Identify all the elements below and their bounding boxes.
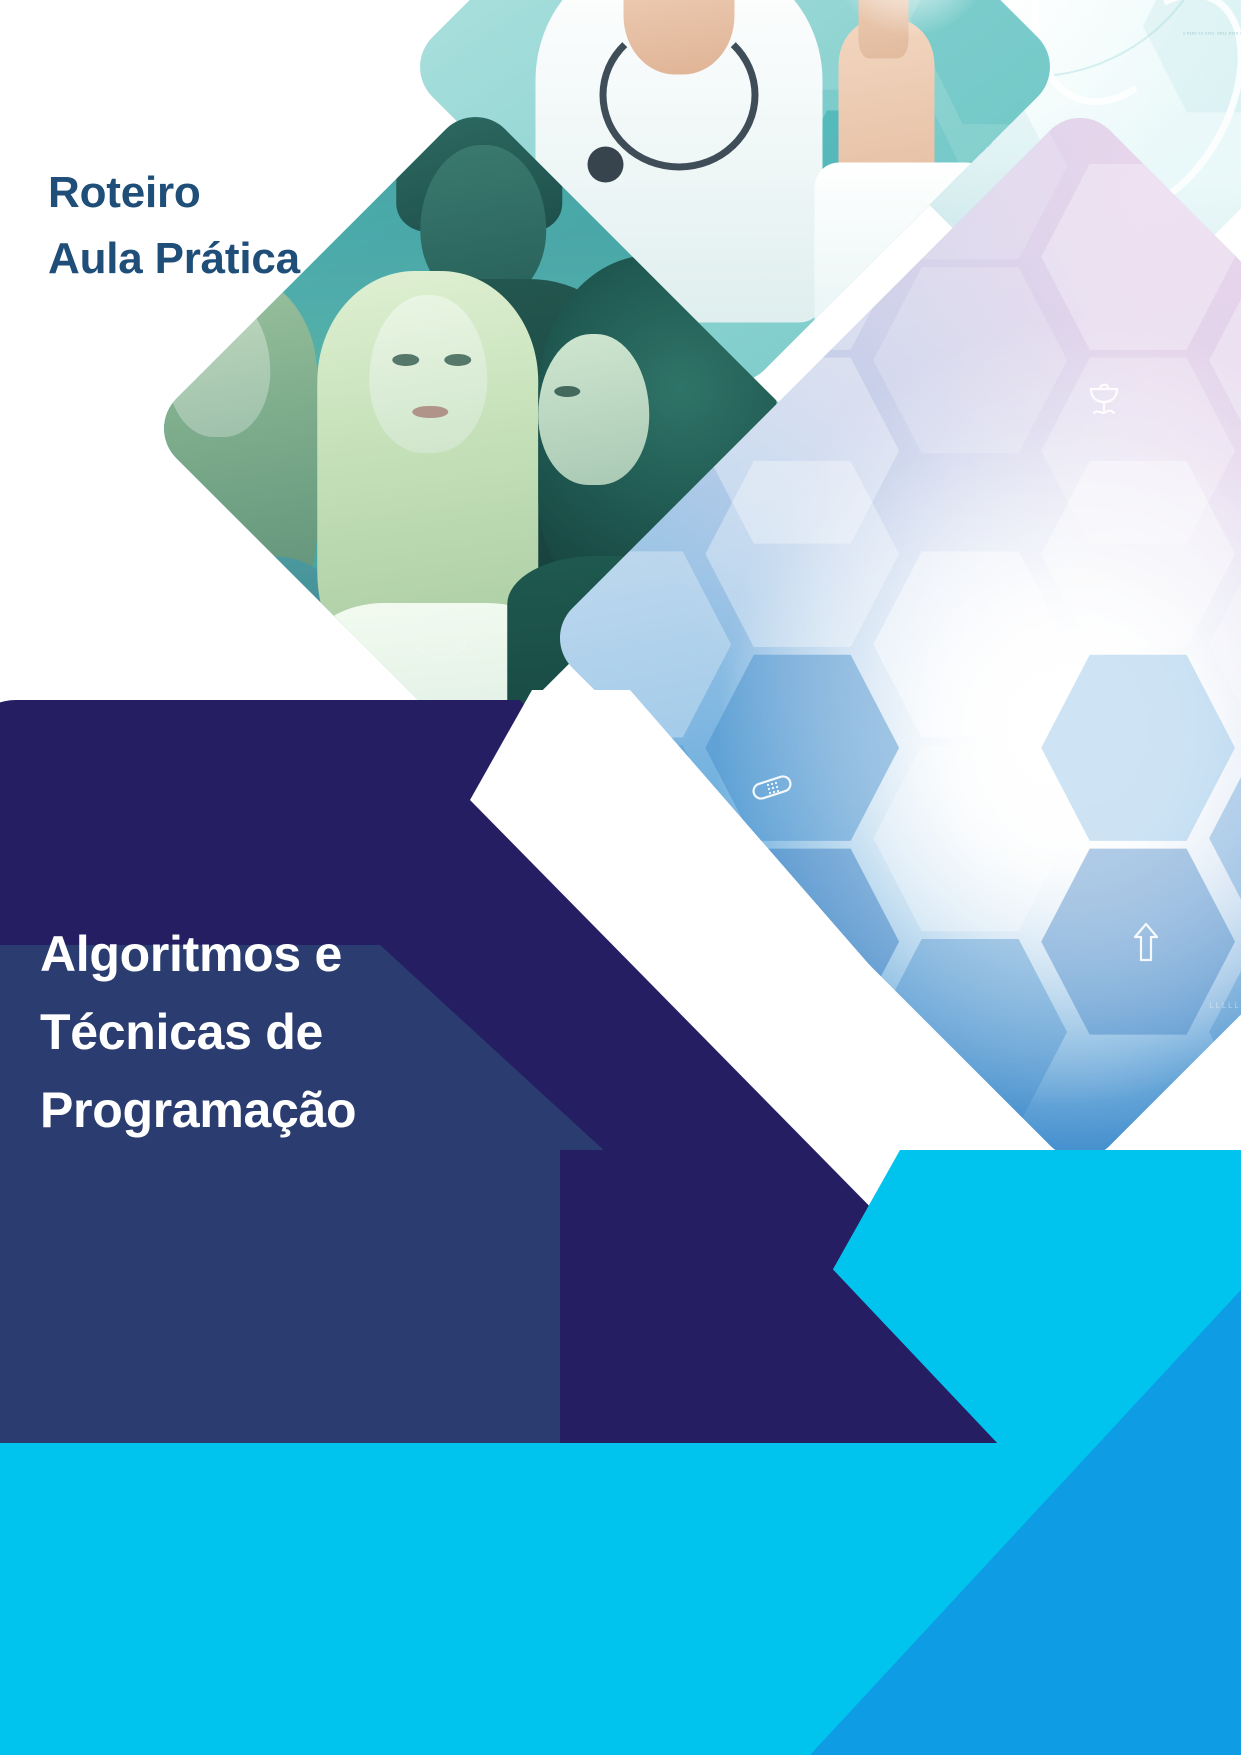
bowl-of-hygieia-icon [1086,380,1122,425]
up-arrow-icon [1132,922,1160,967]
title-line-2: Técnicas de [40,993,470,1071]
cover-page: — 00 0110 1 01 0010 10 0011 0101 0110 10… [0,0,1241,1755]
header-line-roteiro: Roteiro [48,160,300,226]
header-line-aula-pratica: Aula Prática [48,226,300,292]
document-header: Roteiro Aula Prática [48,160,300,292]
title-line-1: Algoritmos e [40,915,470,993]
micro-text: 1 0100 10 1101 0011 0110 1001 [1183,30,1241,36]
title-line-3: Programação [40,1071,470,1149]
bandage-icon [751,774,793,805]
code-texture: ԼԼԼԼԼ ԼԼԼԼ ԼԼԼ ԼԼԼԼԼ ԼԼԼԼ ԼԼԼ ԼԼԼԼԼ ԼԼԼԼ… [1209,1000,1241,1011]
document-title: Algoritmos e Técnicas de Programação [40,915,470,1149]
